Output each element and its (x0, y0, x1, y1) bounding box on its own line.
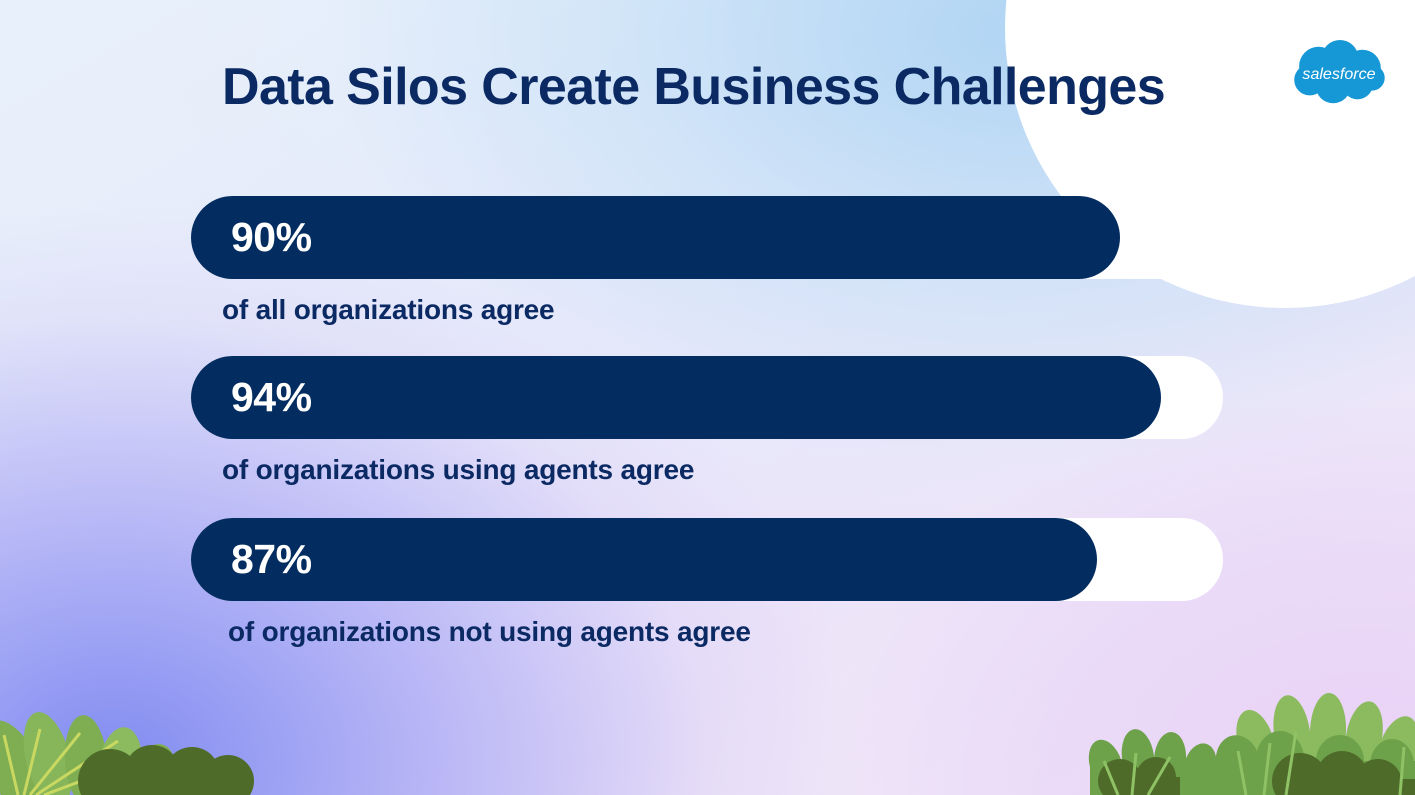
stat-bar-list: 90% of all organizations agree 94% of or… (191, 196, 1223, 647)
bar-track: 94% (191, 356, 1223, 439)
page-title: Data Silos Create Business Challenges (222, 57, 1165, 117)
bar-track: 87% (191, 518, 1223, 601)
bar-fill: 90% (191, 196, 1120, 279)
foliage-decoration (0, 685, 1415, 795)
slide-canvas: salesforce Data Silos Create Business Ch… (0, 0, 1415, 795)
bush-left-dark (78, 745, 254, 795)
bar-caption: of organizations using agents agree (191, 455, 1223, 486)
bush-right (1083, 692, 1415, 795)
salesforce-cloud-logo: salesforce (1288, 39, 1390, 111)
stat-bar-group-1: 90% of all organizations agree (191, 196, 1223, 326)
stat-bar-group-3: 87% of organizations not using agents ag… (191, 518, 1223, 648)
svg-text:salesforce: salesforce (1302, 65, 1375, 83)
bar-track: 90% (191, 196, 1223, 279)
bar-value-label: 87% (191, 539, 312, 580)
bar-fill: 87% (191, 518, 1097, 601)
leaf-left (0, 707, 184, 795)
bar-value-label: 94% (191, 377, 312, 418)
bar-caption: of all organizations agree (191, 295, 1223, 326)
bar-fill: 94% (191, 356, 1161, 439)
bar-caption: of organizations not using agents agree (191, 617, 1223, 648)
bar-value-label: 90% (191, 217, 312, 258)
stat-bar-group-2: 94% of organizations using agents agree (191, 356, 1223, 486)
